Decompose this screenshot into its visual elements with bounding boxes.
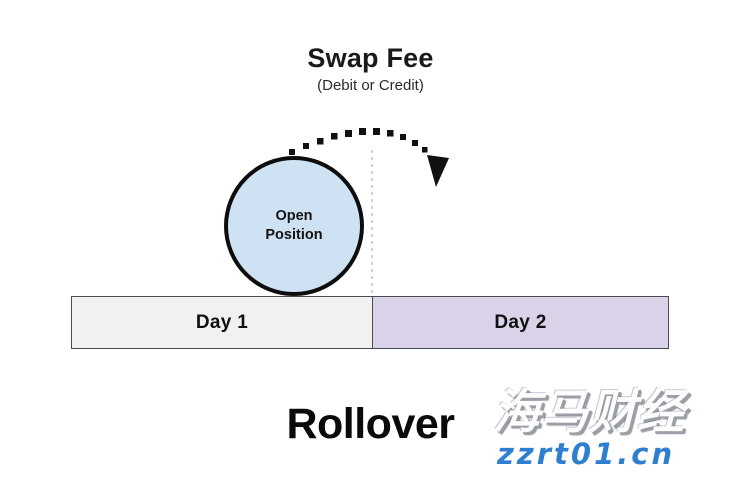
watermark-brand: 海马财经 (493, 388, 737, 438)
day-2-label: Day 2 (494, 312, 546, 334)
open-position-node: Open Position (224, 156, 364, 296)
timeline-bar: Day 1 Day 2 (71, 296, 669, 349)
arrowhead-icon (427, 155, 449, 187)
arc-dots (289, 128, 428, 155)
title-block: Swap Fee (Debit or Credit) (0, 44, 741, 95)
day-1-label: Day 1 (196, 312, 248, 334)
timeline-cell-day-1: Day 1 (72, 297, 373, 348)
diagram-canvas: Swap Fee (Debit or Credit) Open Position (0, 0, 741, 486)
timeline-cell-day-2: Day 2 (373, 297, 668, 348)
page-title: Swap Fee (0, 44, 741, 72)
watermark: 海马财经 zzrt01.cn (493, 388, 737, 469)
watermark-domain: zzrt01.cn (497, 440, 737, 469)
open-position-label: Open Position (265, 207, 322, 244)
page-subtitle: (Debit or Credit) (0, 78, 741, 95)
